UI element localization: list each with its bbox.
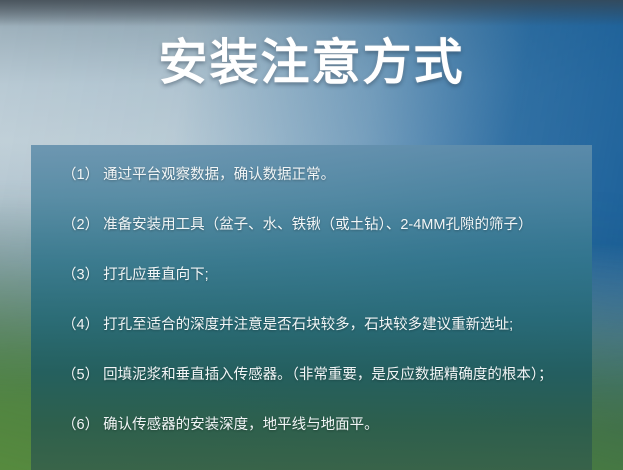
steps-list: （1）通过平台观察数据，确认数据正常。 （2）准备安装用工具（盆子、水、铁锹（或… bbox=[31, 145, 592, 470]
step-index: （4） bbox=[62, 317, 99, 333]
content-panel: （1）通过平台观察数据，确认数据正常。 （2）准备安装用工具（盆子、水、铁锹（或… bbox=[31, 145, 592, 470]
slide-title: 安装注意方式 bbox=[0, 33, 623, 93]
step-text: 准备安装用工具（盆子、水、铁锹（或土钻）、2-4MM孔隙的筛子） bbox=[103, 217, 532, 233]
list-item: （6）确认传感器的安装深度，地平线与地面平。 bbox=[62, 415, 568, 465]
step-index: （2） bbox=[62, 217, 99, 233]
step-text: 打孔应垂直向下; bbox=[103, 267, 209, 283]
step-index: （1） bbox=[62, 167, 99, 183]
step-index: （5） bbox=[62, 367, 99, 383]
list-item: （4）打孔至适合的深度并注意是否石块较多，石块较多建议重新选址; bbox=[62, 315, 568, 365]
step-index: （3） bbox=[62, 267, 99, 283]
step-text: 打孔至适合的深度并注意是否石块较多，石块较多建议重新选址; bbox=[103, 317, 513, 333]
list-item: （3）打孔应垂直向下; bbox=[62, 265, 568, 315]
background-top-band bbox=[0, 0, 623, 26]
step-text: 确认传感器的安装深度，地平线与地面平。 bbox=[103, 417, 379, 433]
step-text: 回填泥浆和垂直插入传感器。（非常重要，是反应数据精确度的根本）； bbox=[103, 367, 553, 383]
step-text: 通过平台观察数据，确认数据正常。 bbox=[103, 167, 335, 183]
slide-root: 安装注意方式 （1）通过平台观察数据，确认数据正常。 （2）准备安装用工具（盆子… bbox=[0, 0, 623, 470]
list-item: （1）通过平台观察数据，确认数据正常。 bbox=[62, 165, 568, 215]
step-index: （6） bbox=[62, 417, 99, 433]
list-item: （2）准备安装用工具（盆子、水、铁锹（或土钻）、2-4MM孔隙的筛子） bbox=[62, 215, 568, 265]
list-item: （5）回填泥浆和垂直插入传感器。（非常重要，是反应数据精确度的根本）； bbox=[62, 365, 568, 415]
